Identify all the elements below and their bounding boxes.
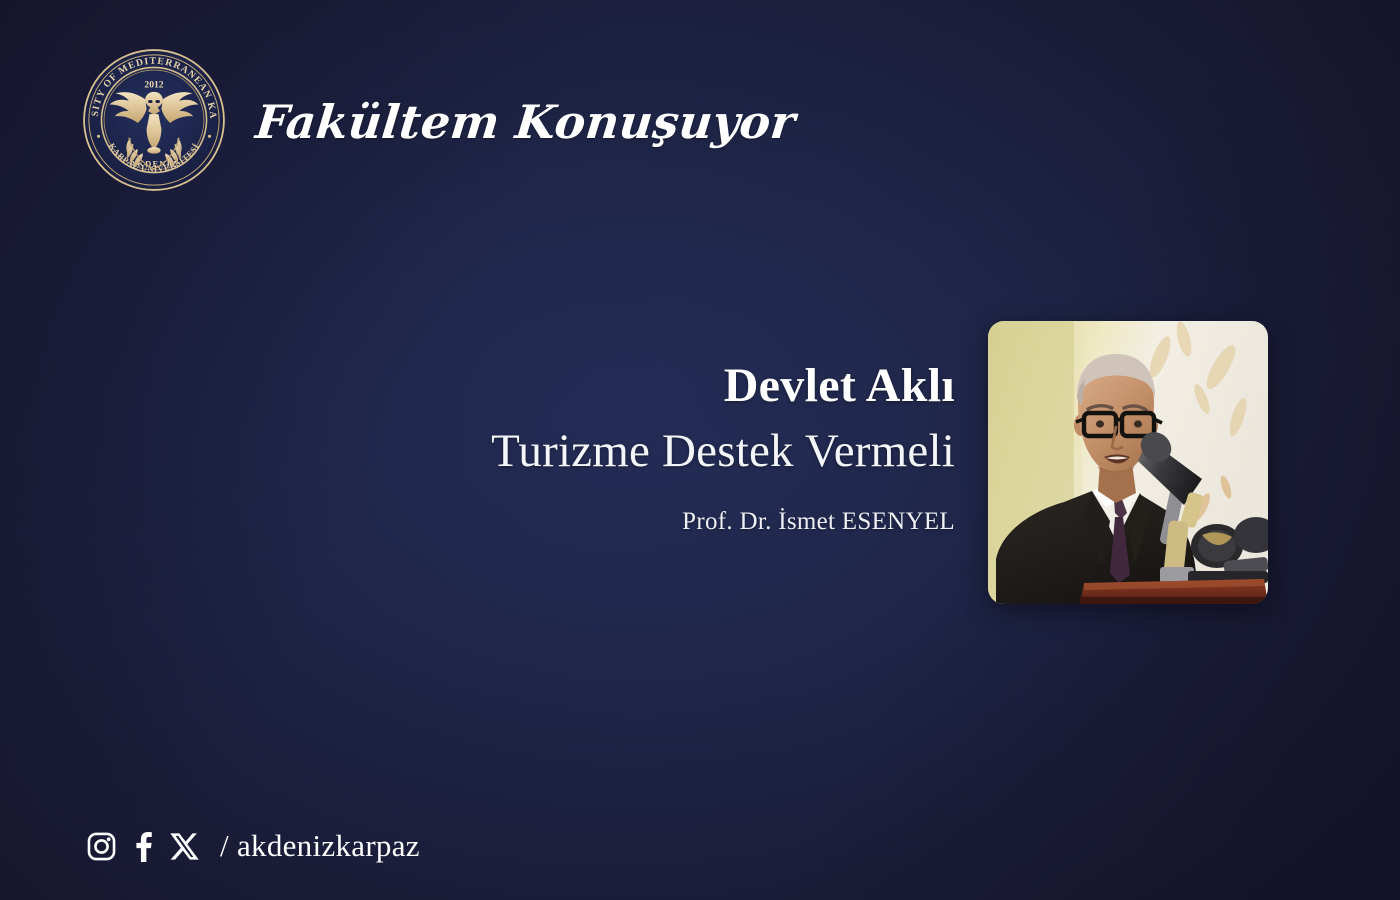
social-handle[interactable]: / akdenizkarpaz (220, 828, 420, 864)
main-text-block: Devlet Aklı Turizme Destek Vermeli Prof.… (380, 360, 955, 536)
instagram-icon[interactable] (86, 831, 117, 862)
speaker-portrait (988, 321, 1268, 604)
university-seal-icon: UNIVERSITY OF MEDITERRANEAN KARPASIA KAR… (80, 46, 228, 194)
header: UNIVERSITY OF MEDITERRANEAN KARPASIA KAR… (80, 46, 795, 194)
slide-canvas: UNIVERSITY OF MEDITERRANEAN KARPASIA KAR… (0, 0, 1400, 900)
speaker-name: Prof. Dr. İsmet ESENYEL (380, 508, 955, 536)
brand-script-title: Fakültem Konuşuyor (254, 99, 798, 145)
svg-text:2012: 2012 (144, 79, 163, 90)
page-subtitle: Turizme Destek Vermeli (380, 424, 955, 479)
social-footer: / akdenizkarpaz (86, 828, 420, 864)
page-title: Devlet Aklı (380, 360, 955, 412)
x-twitter-icon[interactable] (169, 831, 200, 862)
facebook-icon[interactable] (130, 831, 156, 862)
